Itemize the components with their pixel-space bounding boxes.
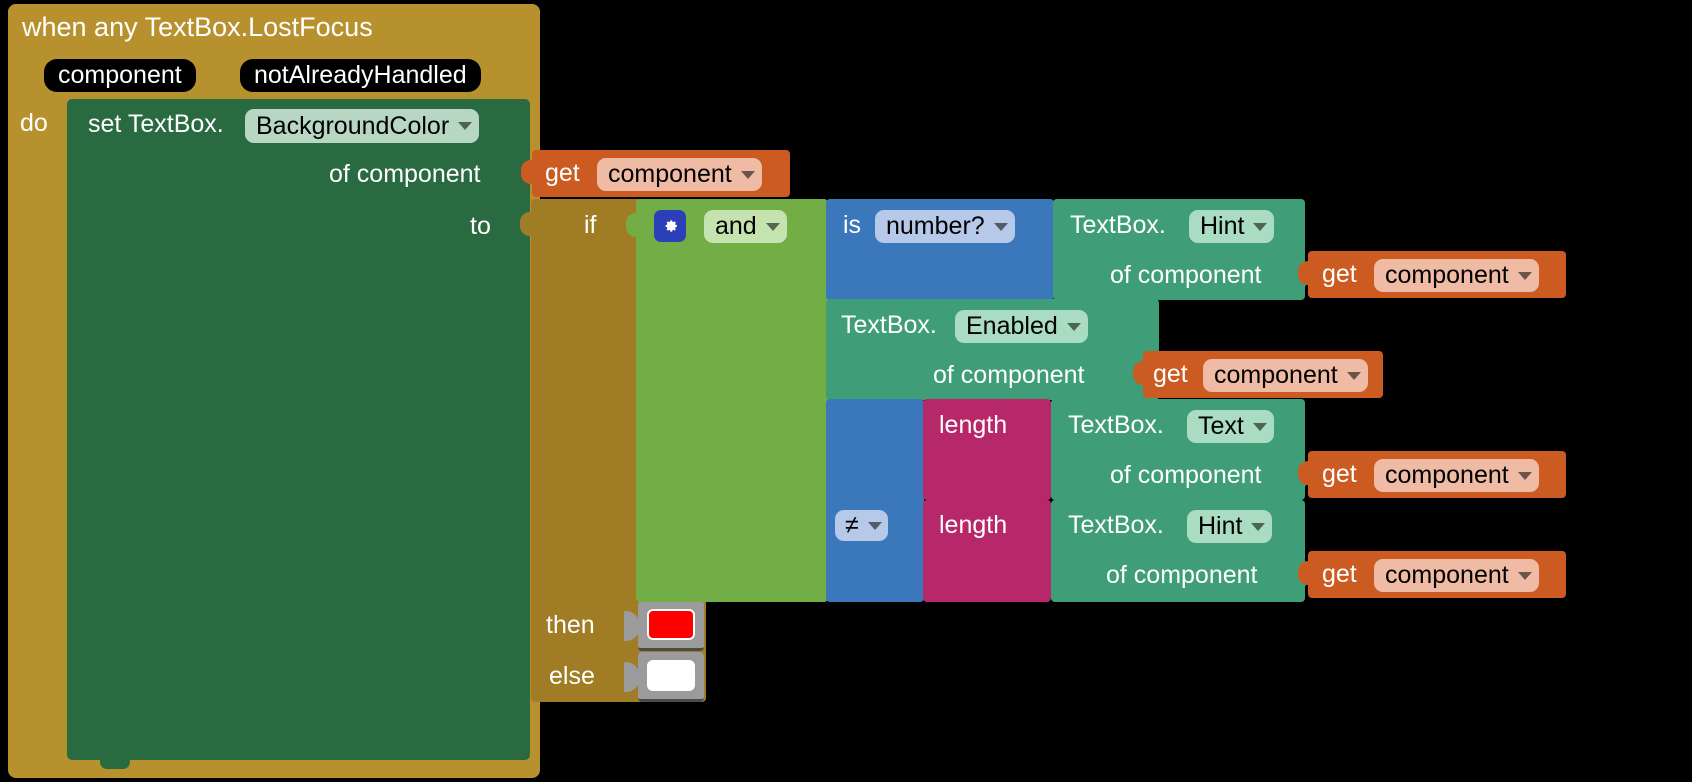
get-block-component-5-get-label: get bbox=[1322, 562, 1357, 587]
get-block-component-3-get-label: get bbox=[1153, 362, 1188, 387]
setter-block-bottom-notch bbox=[100, 758, 130, 769]
component-getter-hint-2-dropdown[interactable]: Hint bbox=[1187, 510, 1272, 543]
setter-to-label: to bbox=[470, 214, 491, 239]
chevron-down-icon bbox=[1067, 323, 1081, 331]
chevron-down-icon bbox=[1518, 472, 1532, 480]
compare-operator-dropdown[interactable]: ≠ bbox=[835, 510, 888, 541]
and-operator-value: and bbox=[715, 212, 757, 241]
chevron-down-icon bbox=[1518, 272, 1532, 280]
get-block-component-2-get-label: get bbox=[1322, 262, 1357, 287]
chevron-down-icon bbox=[458, 122, 472, 130]
component-getter-hint-2-prefix: TextBox. bbox=[1068, 513, 1164, 538]
get-block-component-1-dropdown[interactable]: component bbox=[597, 158, 762, 191]
setter-prefix-label: set TextBox. bbox=[88, 112, 224, 137]
event-param-notalreadyhandled[interactable]: notAlreadyHandled bbox=[240, 59, 481, 92]
event-param-component-label: component bbox=[58, 61, 182, 90]
event-param-component[interactable]: component bbox=[44, 59, 196, 92]
color-block-then[interactable] bbox=[638, 601, 704, 651]
and-operator-dropdown[interactable]: and bbox=[704, 210, 787, 243]
event-do-label: do bbox=[20, 111, 48, 136]
color-block-else[interactable] bbox=[638, 652, 704, 702]
color-swatch-else bbox=[647, 660, 695, 691]
event-param-notalreadyhandled-label: notAlreadyHandled bbox=[254, 61, 467, 90]
chevron-down-icon bbox=[1251, 523, 1265, 531]
chevron-down-icon bbox=[1253, 423, 1267, 431]
is-number-test-value: number? bbox=[886, 212, 985, 241]
is-number-is-label: is bbox=[843, 213, 861, 238]
get-block-component-1-plug bbox=[521, 160, 535, 184]
chevron-down-icon bbox=[994, 223, 1008, 231]
get-block-component-2-dropdown[interactable]: component bbox=[1374, 259, 1539, 292]
get-block-component-5-plug bbox=[1298, 561, 1312, 585]
get-block-component-4-get-label: get bbox=[1322, 462, 1357, 487]
get-block-component-2-variable: component bbox=[1385, 261, 1509, 290]
length-block-text-label: length bbox=[939, 413, 1007, 438]
component-getter-hint-1-prefix: TextBox. bbox=[1070, 213, 1166, 238]
component-getter-enabled-of-component-label: of component bbox=[933, 363, 1085, 388]
component-getter-hint-2-property: Hint bbox=[1198, 512, 1242, 541]
get-block-component-2-plug bbox=[1298, 261, 1312, 285]
get-block-component-5-variable: component bbox=[1385, 561, 1509, 590]
if-label: if bbox=[584, 213, 597, 238]
get-block-component-4-plug bbox=[1298, 461, 1312, 485]
chevron-down-icon bbox=[766, 223, 780, 231]
chevron-down-icon bbox=[868, 522, 882, 530]
component-getter-text-of-component-label: of component bbox=[1110, 463, 1262, 488]
setter-property-dropdown[interactable]: BackgroundColor bbox=[245, 109, 479, 143]
get-block-component-3-variable: component bbox=[1214, 361, 1338, 390]
get-block-component-5-dropdown[interactable]: component bbox=[1374, 559, 1539, 592]
compare-operator-value: ≠ bbox=[845, 511, 859, 540]
component-getter-hint-1-dropdown[interactable]: Hint bbox=[1189, 210, 1274, 243]
color-swatch-then bbox=[647, 609, 695, 640]
component-getter-hint-1-of-component-label: of component bbox=[1110, 263, 1262, 288]
chevron-down-icon bbox=[1347, 372, 1361, 380]
setter-of-component-label: of component bbox=[329, 162, 481, 187]
if-block-left-plug bbox=[520, 212, 534, 236]
event-block-title: when any TextBox.LostFocus bbox=[22, 14, 373, 41]
length-block-hint-label: length bbox=[939, 513, 1007, 538]
and-block[interactable] bbox=[636, 199, 828, 602]
blocks-workspace[interactable]: when any TextBox.LostFocus component not… bbox=[0, 0, 1692, 782]
get-block-component-3-dropdown[interactable]: component bbox=[1203, 359, 1368, 392]
component-getter-enabled-prefix: TextBox. bbox=[841, 313, 937, 338]
setter-block-set-backgroundcolor[interactable] bbox=[67, 99, 530, 760]
chevron-down-icon bbox=[1518, 572, 1532, 580]
component-getter-enabled-property: Enabled bbox=[966, 312, 1058, 341]
then-label: then bbox=[546, 613, 595, 638]
is-number-test-dropdown[interactable]: number? bbox=[875, 210, 1015, 243]
component-getter-text-dropdown[interactable]: Text bbox=[1187, 410, 1274, 443]
get-block-component-4-dropdown[interactable]: component bbox=[1374, 459, 1539, 492]
setter-property-value: BackgroundColor bbox=[256, 112, 449, 141]
component-getter-enabled-dropdown[interactable]: Enabled bbox=[955, 310, 1088, 343]
get-block-component-3-plug bbox=[1133, 361, 1147, 385]
chevron-down-icon bbox=[1253, 223, 1267, 231]
component-getter-text-property: Text bbox=[1198, 412, 1244, 441]
component-getter-hint-2-of-component-label: of component bbox=[1106, 563, 1258, 588]
chevron-down-icon bbox=[741, 171, 755, 179]
else-label: else bbox=[549, 664, 595, 689]
component-getter-hint-1-property: Hint bbox=[1200, 212, 1244, 241]
component-getter-text-prefix: TextBox. bbox=[1068, 413, 1164, 438]
and-block-left-plug bbox=[626, 213, 640, 237]
get-block-component-1-variable: component bbox=[608, 160, 732, 189]
get-block-component-4-variable: component bbox=[1385, 461, 1509, 490]
gear-icon[interactable] bbox=[654, 210, 686, 242]
get-block-component-1-get-label: get bbox=[545, 161, 580, 186]
